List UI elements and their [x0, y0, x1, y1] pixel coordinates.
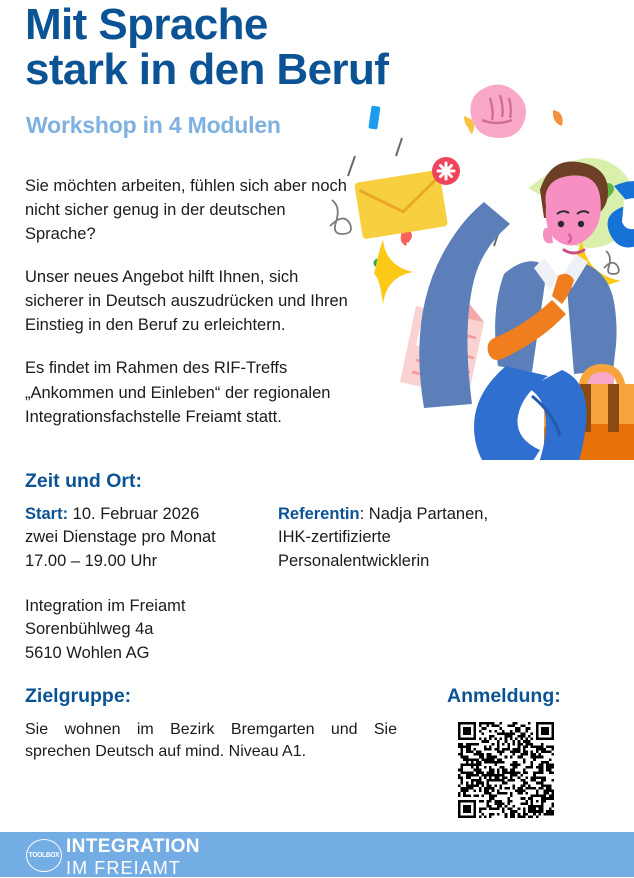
confetti-marks — [330, 104, 619, 274]
start-line: Start: 10. Februar 2026 — [25, 503, 275, 526]
yellow-sparkle — [374, 240, 621, 450]
footer-bar: TOOLBOX INTEGRATION IM FREIAMT — [0, 832, 634, 877]
time-line: 17.00 – 19.00 Uhr — [25, 550, 275, 573]
blue-swoosh — [608, 181, 634, 247]
businessman-celebrating-illustration — [318, 78, 634, 460]
zeit-details-column: Start: 10. Februar 2026 zwei Dienstage p… — [25, 503, 275, 573]
start-value: 10. Februar 2026 — [68, 505, 199, 523]
page-subtitle: Workshop in 4 Modulen — [26, 112, 281, 139]
zielgruppe-line-1: Sie wohnen im Bezirk Bremgarten und Sie — [25, 719, 397, 741]
footer-brand-line-1: INTEGRATION — [66, 837, 200, 856]
referentin-line-2: IHK-zertifizierte — [278, 526, 548, 549]
intro-paragraph-2: Unser neues Angebot hilft Ihnen, sich si… — [25, 265, 355, 337]
referentin-value: : Nadja Partanen, — [360, 505, 488, 523]
qr-code-canvas[interactable] — [458, 722, 554, 818]
page-title: Mit Sprache stark in den Beruf — [25, 2, 495, 93]
yellow-envelope-icon — [354, 157, 460, 239]
referentin-line-1: Referentin: Nadja Partanen, — [278, 503, 548, 526]
zielgruppe-heading: Zielgruppe: — [25, 685, 131, 708]
orange-briefcase — [544, 368, 634, 460]
businessman-figure — [419, 84, 634, 460]
referentin-line-3: Personalentwicklerin — [278, 550, 548, 573]
green-check-speech-bubble — [528, 158, 634, 248]
poster-canvas: Mit Sprache stark in den Beruf Workshop … — [0, 0, 634, 877]
intro-paragraph-1: Sie möchten arbeiten, fühlen sich aber n… — [25, 174, 355, 246]
start-label: Start: — [25, 505, 68, 523]
zielgruppe-line-2: sprechen Deutsch auf mind. Niveau A1. — [25, 741, 397, 763]
pink-document-icon — [400, 302, 484, 398]
toolbox-logo-text: TOOLBOX — [29, 851, 60, 859]
intro-paragraph-3: Es findet im Rahmen des RIF-Treffs „Anko… — [25, 356, 355, 428]
anmeldung-heading: Anmeldung: — [447, 685, 561, 708]
toolbox-logo-icon: TOOLBOX — [26, 839, 62, 872]
venue-name: Integration im Freiamt — [25, 595, 285, 618]
zeit-und-ort-heading: Zeit und Ort: — [25, 470, 142, 493]
footer-brand-line-2: IM FREIAMT — [66, 859, 200, 877]
venue-street: Sorenbühlweg 4a — [25, 618, 285, 641]
intro-text-block: Sie möchten arbeiten, fühlen sich aber n… — [25, 174, 355, 429]
referentin-label: Referentin — [278, 505, 360, 523]
footer-brand: INTEGRATION IM FREIAMT — [66, 837, 200, 877]
venue-city: 5610 Wohlen AG — [25, 642, 285, 665]
zielgruppe-text: Sie wohnen im Bezirk Bremgarten und Sie … — [25, 719, 397, 763]
qr-code[interactable] — [458, 722, 554, 818]
referentin-column: Referentin: Nadja Partanen, IHK-zertifiz… — [278, 503, 548, 573]
venue-address-block: Integration im Freiamt Sorenbühlweg 4a 5… — [25, 595, 285, 665]
frequency-line: zwei Dienstage pro Monat — [25, 526, 275, 549]
